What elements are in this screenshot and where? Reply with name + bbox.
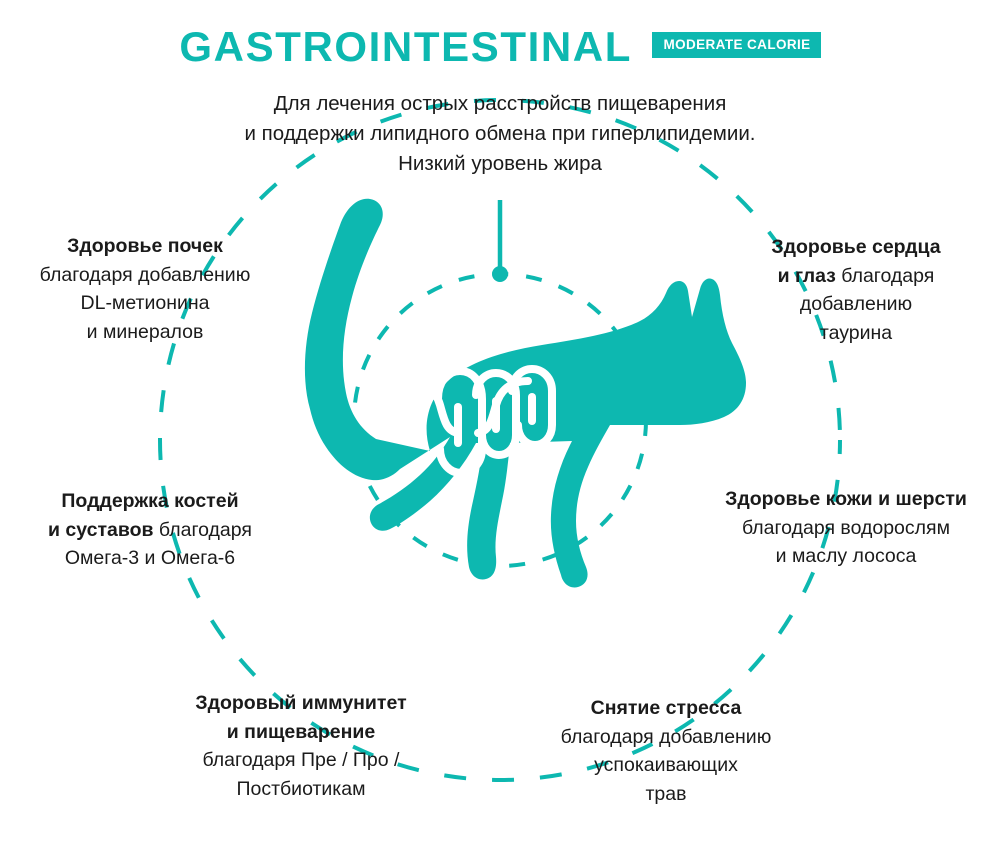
benefit-title: Здоровый иммунитет [195,692,406,714]
benefit-line: благодаря добавлению [561,726,772,748]
benefit-heart-and-eye-health: Здоровье сердца и глаз благодаря добавле… [712,233,1000,347]
benefit-line: таурина [820,322,892,344]
benefit-title: Здоровье сердца [771,236,940,258]
subtitle-line-3: Низкий уровень жира [0,149,1000,179]
benefit-line: благодаря добавлению [40,264,251,286]
subtitle-line-1: Для лечения острых расстройств пищеварен… [0,89,1000,119]
cat-body-shape [305,199,746,588]
benefit-title: Здоровье кожи и шерсти [725,488,967,510]
benefit-stress-relief: Снятие стресса благодаря добавлению успо… [522,694,810,808]
benefit-title-cont: и суставов [48,519,153,541]
cat-silhouette [280,185,750,615]
benefit-title: Поддержка костей [61,490,238,512]
benefit-line: Постбиотикам [236,778,365,800]
benefit-inline: благодаря [836,265,934,287]
infographic-canvas: GASTROINTESTINAL MODERATE CALORIE Для ле… [0,0,1000,858]
benefit-line: трав [646,783,687,805]
subtitle-line-2: и поддержки липидного обмена при гиперли… [0,119,1000,149]
header: GASTROINTESTINAL MODERATE CALORIE [0,26,1000,68]
benefit-title-cont: и пищеварение [227,721,375,743]
benefit-skin-and-coat-health: Здоровье кожи и шерсти благодаря водорос… [692,485,1000,571]
benefit-inline: благодаря [154,519,252,541]
benefit-immunity-and-digestion: Здоровый иммунитет и пищеварение благода… [142,689,460,803]
subtitle: Для лечения острых расстройств пищеварен… [0,89,1000,179]
benefit-line: DL-метионина [81,292,210,314]
benefit-bone-and-joint-support: Поддержка костей и суставов благодаря Ом… [0,487,300,573]
status-badge: MODERATE CALORIE [652,32,820,58]
benefit-line: благодаря Пре / Про / [203,749,400,771]
benefit-kidney-health: Здоровье почек благодаря добавлению DL-м… [0,232,290,346]
benefit-line: и минералов [87,321,204,343]
benefit-title-cont: и глаз [778,265,836,287]
benefit-title: Здоровье почек [67,235,223,257]
page-title: GASTROINTESTINAL [179,26,632,68]
benefit-line: благодаря водорослям [742,517,950,539]
benefit-line: успокаивающих [594,754,738,776]
benefit-line: Омега-3 и Омега-6 [65,547,235,569]
benefit-line: и маслу лососа [776,545,917,567]
benefit-line: добавлению [800,293,912,315]
benefit-title: Снятие стресса [591,697,742,719]
